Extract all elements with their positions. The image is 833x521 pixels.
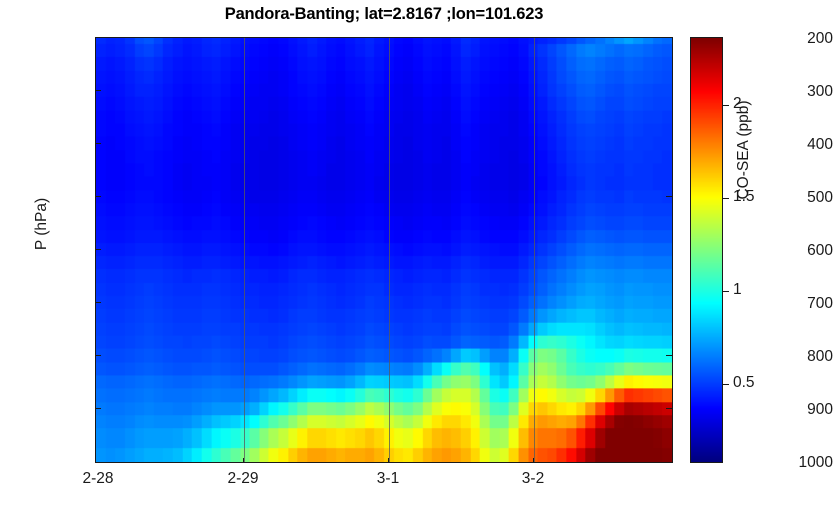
y-tick-label-800: 800 — [781, 349, 833, 365]
x-tick-label-3-2: 3-2 — [522, 470, 544, 488]
colorbar-gradient — [691, 38, 722, 462]
y-tick-label-900: 900 — [781, 402, 833, 418]
y-tick-label-600: 600 — [781, 243, 833, 259]
x-tick-mark-3-2 — [533, 458, 534, 463]
colorbar-label: CO-SEA (ppb) — [735, 50, 753, 250]
colorbar[interactable] — [690, 37, 723, 463]
heatmap-plot-area[interactable] — [95, 37, 673, 463]
x-tick-label-2-29: 2-29 — [227, 470, 258, 488]
y-tick-mark-right-800 — [666, 355, 672, 356]
x-tick-mark-3-1 — [388, 458, 389, 463]
y-tick-label-200: 200 — [781, 31, 833, 47]
y-tick-mark-700 — [95, 302, 101, 303]
gridline-3-2 — [534, 38, 535, 462]
y-tick-label-700: 700 — [781, 296, 833, 312]
figure-canvas: Pandora-Banting; lat=2.8167 ;lon=101.623… — [0, 0, 833, 521]
y-axis-label: P (hPa) — [33, 164, 51, 284]
y-tick-label-1000: 1000 — [781, 455, 833, 471]
y-tick-label-500: 500 — [781, 190, 833, 206]
colorbar-tick-mark-1.5 — [723, 198, 729, 199]
y-tick-mark-800 — [95, 355, 101, 356]
gridline-3-1 — [389, 38, 390, 462]
y-tick-mark-right-900 — [666, 408, 672, 409]
y-tick-label-400: 400 — [781, 137, 833, 153]
x-tick-label-2-28: 2-28 — [82, 470, 113, 488]
y-tick-mark-900 — [95, 408, 101, 409]
colorbar-tick-mark-1 — [723, 291, 729, 292]
y-tick-mark-500 — [95, 196, 101, 197]
x-tick-label-3-1: 3-1 — [377, 470, 399, 488]
y-tick-mark-600 — [95, 249, 101, 250]
chart-title: Pandora-Banting; lat=2.8167 ;lon=101.623 — [95, 5, 673, 24]
heatmap-image — [96, 38, 672, 462]
colorbar-tick-mark-0.5 — [723, 384, 729, 385]
y-tick-label-300: 300 — [781, 84, 833, 100]
y-tick-mark-right-500 — [666, 196, 672, 197]
gridline-2-29 — [244, 38, 245, 462]
y-tick-mark-400 — [95, 143, 101, 144]
colorbar-tick-mark-2 — [723, 105, 729, 106]
colorbar-tick-label-0.5: 0.5 — [733, 375, 755, 391]
colorbar-tick-label-1: 1 — [733, 282, 742, 298]
x-tick-mark-2-29 — [243, 458, 244, 463]
y-tick-mark-300 — [95, 90, 101, 91]
